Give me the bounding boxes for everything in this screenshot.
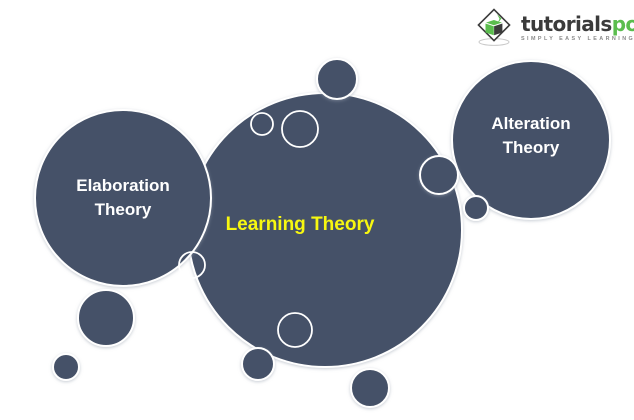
accent-dot-top-edge (317, 59, 357, 99)
label-line: Learning Theory (226, 214, 375, 235)
accent-dot-bottom-edge (242, 348, 274, 380)
accent-dot-right-edge (420, 156, 458, 194)
accent-dot-left-large (78, 290, 134, 346)
bubble-diagram: Learning TheoryElaborationTheoryAlterati… (0, 0, 634, 420)
diagram-canvas: Learning TheoryElaborationTheoryAlterati… (0, 0, 634, 420)
accent-dot-right-small (464, 196, 488, 220)
tutorialspoint-logo-icon (473, 7, 515, 49)
label-line: Elaboration (76, 176, 170, 195)
logo-diamond-book-icon (473, 7, 515, 49)
logo-tagline: SIMPLY EASY LEARNING (521, 37, 634, 42)
logo-title: tutorialspoint (521, 14, 634, 34)
label-line: Theory (503, 139, 560, 158)
bubble-elaboration-theory[interactable] (35, 110, 211, 286)
tutorialspoint-logo: tutorialspoint SIMPLY EASY LEARNING (473, 6, 631, 50)
logo-wordmark: tutorialspoint SIMPLY EASY LEARNING (521, 14, 634, 42)
label-learning-theory: Learning Theory (226, 214, 375, 235)
label-line: Theory (95, 201, 152, 220)
accent-dot-left-small (53, 354, 79, 380)
label-line: Alteration (491, 114, 570, 133)
logo-word-point: point (612, 12, 634, 36)
accent-dot-bottom-detached (351, 369, 389, 407)
logo-word-tutorials: tutorials (521, 12, 612, 36)
